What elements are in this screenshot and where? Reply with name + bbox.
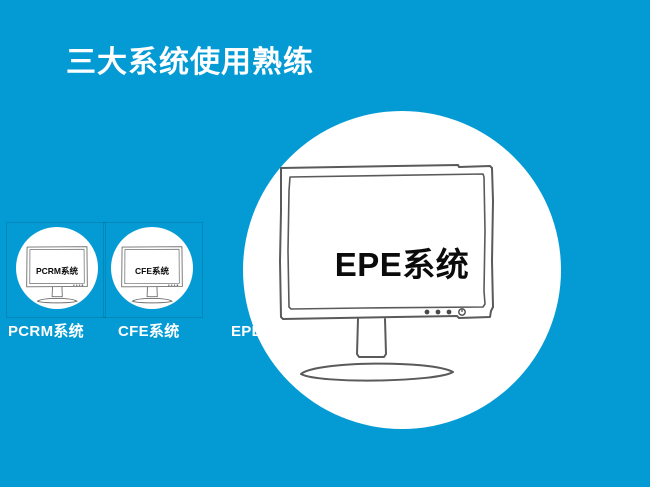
computer-monitor-sketch-icon <box>111 227 193 309</box>
node-circle-pcrm[interactable]: PCRM系统 <box>16 227 98 309</box>
computer-monitor-sketch-icon <box>243 111 561 429</box>
monitor-buttons-icon <box>73 284 83 286</box>
computer-monitor-sketch-icon <box>16 227 98 309</box>
monitor-buttons-icon <box>168 284 178 286</box>
node-circle-epe[interactable]: EPE系统 <box>243 111 561 429</box>
caption-pcrm: PCRM系统 <box>8 320 84 341</box>
monitor-buttons-icon <box>425 309 466 315</box>
node-circle-cfe[interactable]: CFE系统 <box>111 227 193 309</box>
caption-cfe: CFE系统 <box>118 320 180 341</box>
slide-canvas: 三大系统使用熟练 PCRM系统 CFE系统 EPE系统 PCRM系统 <box>0 0 650 487</box>
page-title: 三大系统使用熟练 <box>66 46 314 81</box>
